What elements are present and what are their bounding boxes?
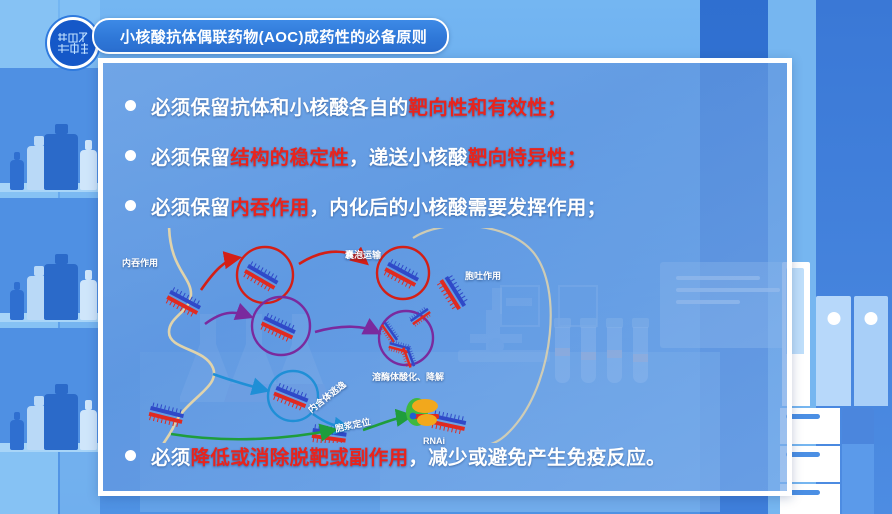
bullet-2-text: 必须保留结构的稳定性，递送小核酸靶向特异性； xyxy=(151,141,587,170)
brand-logo xyxy=(47,17,99,69)
endocytosis-diagram: 内吞作用 囊泡运输 胞吐作用 溶酶体酸化、降解 内含体逃逸 胞浆定位 RNAi xyxy=(113,228,773,443)
bullet-4-text: 必须降低或消除脱靶或副作用，减少或避免产生免疫反应。 xyxy=(151,441,666,470)
logo-glyph-icon xyxy=(56,30,90,56)
bullet-item-3: 必须保留内吞作用，内化后的小核酸需要发挥作用； xyxy=(125,191,606,220)
bullet-item-1: 必须保留抗体和小核酸各自的靶向性和有效性； xyxy=(125,91,567,120)
bullet-dot-icon xyxy=(125,150,136,161)
risc-complex xyxy=(406,398,439,426)
bullet-3-seg-2: 内吞作用 xyxy=(230,197,309,219)
cell-membrane xyxy=(163,228,214,443)
page-title: 小核酸抗体偶联药物(AOC)成药性的必备原则 xyxy=(120,26,427,47)
bullet-3-seg-1: 必须保留 xyxy=(151,197,230,219)
bullet-2-seg-4: 靶向特异性； xyxy=(468,147,587,169)
bullet-4-seg-1: 必须 xyxy=(151,447,191,469)
diagram-svg xyxy=(113,228,773,443)
bullet-item-2: 必须保留结构的稳定性，递送小核酸靶向特异性； xyxy=(125,141,587,170)
bullet-2-seg-2: 结构的稳定性 xyxy=(230,147,349,169)
bullet-dot-icon xyxy=(125,450,136,461)
bullet-2-seg-3: ，递送小核酸 xyxy=(349,147,468,169)
slide-title-bar: 小核酸抗体偶联药物(AOC)成药性的必备原则 xyxy=(92,18,449,54)
pathway-arrows xyxy=(171,252,409,440)
label-endocytosis: 内吞作用 xyxy=(122,256,158,269)
bullet-3-text: 必须保留内吞作用，内化后的小核酸需要发挥作用； xyxy=(151,191,606,220)
bullet-1-seg-1: 必须保留抗体和小核酸各自的 xyxy=(151,97,408,119)
bullet-4-seg-2: 降低或消除脱靶或副作用 xyxy=(191,447,409,469)
bullet-item-4: 必须降低或消除脱靶或副作用，减少或避免产生免疫反应。 xyxy=(125,441,666,470)
content-panel: 内吞作用 囊泡运输 胞吐作用 溶酶体酸化、降解 内含体逃逸 胞浆定位 RNAi … xyxy=(98,58,792,496)
label-lysosome: 溶酶体酸化、降解 xyxy=(372,370,444,383)
bullet-4-seg-3: ，减少或避免产生免疫反应。 xyxy=(408,447,665,469)
bullet-2-seg-1: 必须保留 xyxy=(151,147,230,169)
label-vesicle-transport: 囊泡运输 xyxy=(345,248,381,261)
label-exocytosis: 胞吐作用 xyxy=(465,269,501,282)
bullet-3-seg-3: ，内化后的小核酸需要发挥作用； xyxy=(309,197,606,219)
bullet-1-text: 必须保留抗体和小核酸各自的靶向性和有效性； xyxy=(151,91,567,120)
bullet-1-seg-2: 靶向性和有效性； xyxy=(408,97,566,119)
bullet-dot-icon xyxy=(125,200,136,211)
slide-canvas: 小核酸抗体偶联药物(AOC)成药性的必备原则 xyxy=(0,0,892,514)
bullet-dot-icon xyxy=(125,100,136,111)
